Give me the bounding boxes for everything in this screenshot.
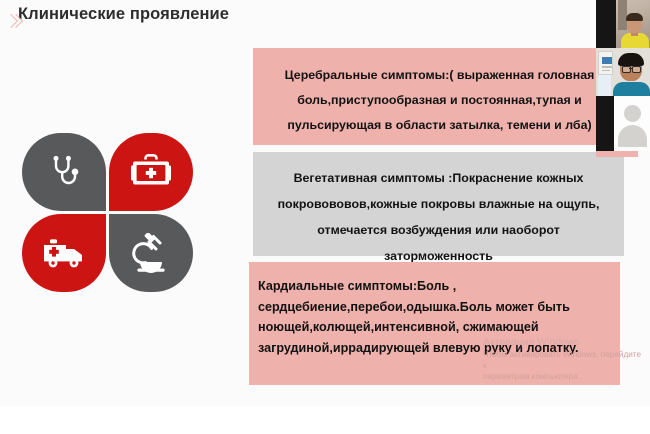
cerebral-line-1: Церебральные симптомы:( выраженная голов… — [259, 63, 620, 88]
content-box-cerebral: Церебральные симптомы:( выраженная голов… — [253, 48, 626, 145]
page-title-text: Клинические проявление — [18, 5, 229, 23]
stethoscope-icon — [44, 152, 84, 192]
microscope-icon — [132, 233, 170, 273]
video-2-wall-poster — [598, 51, 613, 75]
vegetative-line-3: отмечается возбуждения или наоборот — [261, 217, 616, 243]
cardial-line-1: Кардиальные симптомы:Боль , — [258, 276, 620, 297]
video-2-glasses-right — [632, 66, 641, 73]
video-1-door — [618, 0, 627, 30]
video-2-hair — [618, 53, 644, 66]
watermark-title: Активация Windows — [483, 336, 643, 349]
video-participant-strip[interactable] — [596, 0, 650, 151]
page-title: Клинические проявление — [18, 5, 229, 24]
cardial-line-2: сердцебиение,перебои,одышка.Боль может б… — [258, 297, 620, 318]
content-box-vegetative: Вегетативная симптомы :Покраснение кожны… — [253, 152, 624, 256]
watermark-line-2: параметрам компьютера. — [483, 371, 643, 382]
vegetative-line-2: покровововов,кожные покровы влажные на о… — [261, 191, 616, 217]
video-2-wall-poster-2 — [598, 75, 611, 96]
petal-first-aid-kit — [109, 133, 193, 211]
video-2-poster-line-1 — [602, 66, 612, 68]
watermark-line-1: Чтобы активировать Windows, перейдите к — [483, 349, 643, 371]
video-3-letterbox — [596, 96, 614, 151]
video-strip-footer-accent — [596, 151, 638, 157]
cerebral-line-2: боль,приступообразная и постоянная,тупая… — [259, 88, 620, 113]
medical-icon-cluster — [22, 133, 202, 298]
video-2-poster-image — [602, 57, 612, 64]
video-1-letterbox — [596, 0, 616, 48]
vegetative-line-1: Вегетативная симптомы :Покраснение кожны… — [261, 165, 616, 191]
first-aid-kit-icon — [130, 153, 172, 191]
video-tile-participant-2[interactable] — [596, 48, 650, 96]
video-2-poster-line-2 — [602, 70, 610, 72]
presentation-slide: Клинические проявление — [0, 0, 650, 406]
petal-ambulance — [22, 214, 106, 292]
video-tile-participant-1[interactable] — [596, 0, 650, 48]
petal-microscope — [109, 214, 193, 292]
video-2-glasses-bridge — [629, 68, 632, 69]
cardial-line-3: ноющей,колющей,интенсивной, сжимающей — [258, 317, 620, 338]
petal-stethoscope — [22, 133, 106, 211]
cerebral-line-3: пульсирующая в области затылка, темени и… — [259, 113, 620, 138]
avatar-head — [624, 105, 641, 122]
windows-activation-watermark: Активация Windows Чтобы активировать Win… — [483, 336, 643, 382]
ambulance-icon — [42, 237, 86, 269]
video-2-torso — [613, 82, 650, 96]
avatar-body — [618, 125, 647, 147]
screen-root: Клинические проявление — [0, 0, 650, 434]
video-1-hair — [626, 13, 643, 21]
video-tile-participant-3[interactable] — [596, 96, 650, 151]
